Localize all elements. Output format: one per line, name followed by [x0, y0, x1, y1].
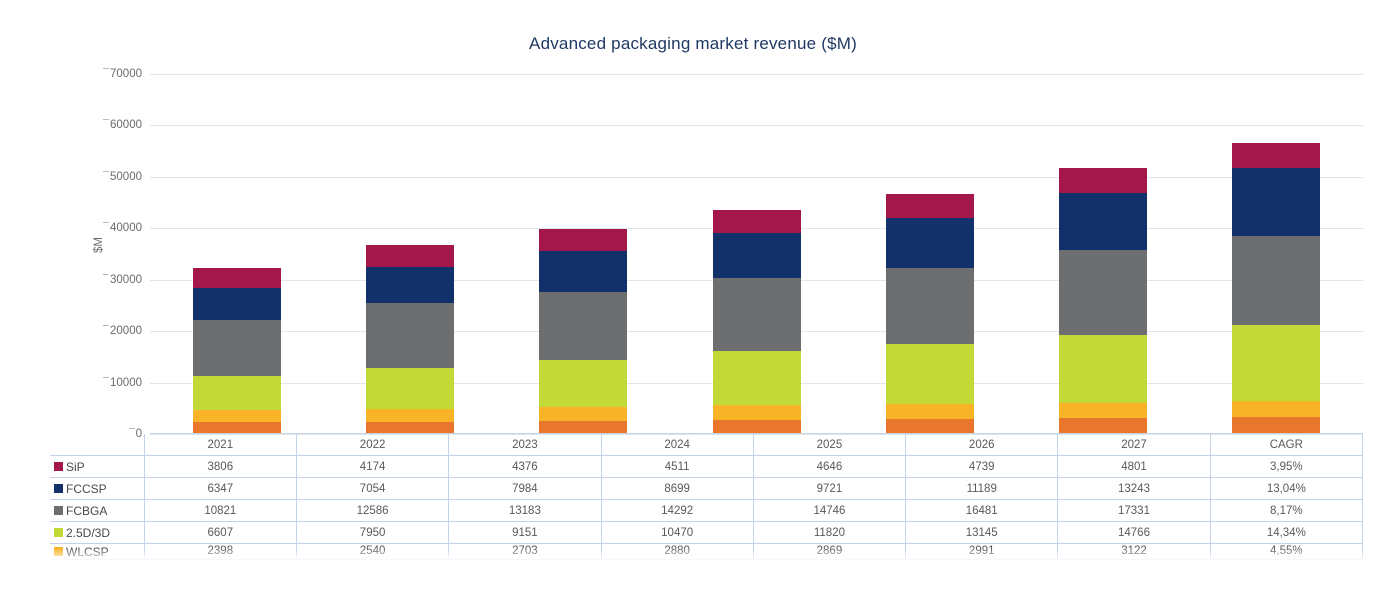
plot-area: 010000200003000040000500006000070000	[150, 74, 1363, 434]
table-cell: 3,95%	[1210, 456, 1362, 478]
table-cell: 13,04%	[1210, 478, 1362, 500]
table-cell: 8699	[601, 478, 753, 500]
table-cell: 4739	[906, 456, 1058, 478]
table-cell: 7950	[296, 522, 448, 544]
table-cell: 3806	[144, 456, 296, 478]
y-axis-tick-mark	[103, 274, 109, 275]
bar-segment[interactable]	[366, 409, 454, 422]
y-axis-tick-label: 40000	[110, 222, 142, 234]
bar-segment[interactable]	[366, 245, 454, 266]
bar-segment[interactable]	[713, 278, 801, 352]
table-cell: 6607	[144, 522, 296, 544]
bar-segment[interactable]	[1232, 325, 1320, 401]
y-axis-tick-mark	[103, 325, 109, 326]
bar-segment[interactable]	[1232, 168, 1320, 236]
bar-segment[interactable]	[1232, 143, 1320, 168]
table-cell: 9721	[753, 478, 905, 500]
table-corner-cell	[50, 434, 144, 456]
y-axis-tick-mark	[103, 119, 109, 120]
bar-segment[interactable]	[1059, 335, 1147, 403]
bar-segment[interactable]	[713, 210, 801, 233]
legend-color-swatch	[54, 462, 63, 471]
table-cell: 9151	[449, 522, 601, 544]
legend-color-swatch	[54, 484, 63, 493]
bottom-fade	[0, 548, 1386, 562]
table-cell: 13183	[449, 500, 601, 522]
bar-segment[interactable]	[1232, 236, 1320, 325]
legend-color-swatch	[54, 528, 63, 537]
table-cell: 7054	[296, 478, 448, 500]
bar-segment[interactable]	[1232, 417, 1320, 434]
y-axis-tick-mark	[103, 68, 109, 69]
bar-segment[interactable]	[1059, 418, 1147, 434]
table-cell: 4174	[296, 456, 448, 478]
table-cell: 14292	[601, 500, 753, 522]
table-column-header: CAGR	[1210, 434, 1362, 456]
bar-segment[interactable]	[1059, 168, 1147, 192]
bar-stack[interactable]	[713, 210, 801, 434]
y-axis-tick-label: 20000	[110, 325, 142, 337]
table-column-header: 2026	[906, 434, 1058, 456]
bar-segment[interactable]	[539, 229, 627, 252]
y-axis-tick-mark	[103, 377, 109, 378]
bar-segment[interactable]	[539, 251, 627, 292]
table-header-row: 2021202220232024202520262027CAGR	[50, 434, 1363, 456]
table-column-header: 2025	[753, 434, 905, 456]
legend-label: FCBGA	[66, 504, 107, 518]
data-table: 2021202220232024202520262027CAGRSiP38064…	[50, 434, 1363, 560]
table-column-header: 2024	[601, 434, 753, 456]
legend-item[interactable]: FCBGA	[50, 500, 144, 522]
bar-segment[interactable]	[886, 404, 974, 419]
table-row: FCBGA10821125861318314292147461648117331…	[50, 500, 1363, 522]
legend-item[interactable]: FCCSP	[50, 478, 144, 500]
table-cell: 17331	[1058, 500, 1210, 522]
table-cell: 4646	[753, 456, 905, 478]
bar-stack[interactable]	[366, 245, 454, 434]
table-cell: 8,17%	[1210, 500, 1362, 522]
table-cell: 11820	[753, 522, 905, 544]
table-row: SiP38064174437645114646473948013,95%	[50, 456, 1363, 478]
y-axis-tick-label: 50000	[110, 171, 142, 183]
bar-group	[150, 74, 1363, 434]
bar-segment[interactable]	[539, 407, 627, 421]
bar-segment[interactable]	[366, 267, 454, 303]
legend-item[interactable]: SiP	[50, 456, 144, 478]
table-cell: 4511	[601, 456, 753, 478]
legend-label: FCCSP	[66, 482, 107, 496]
table-cell: 7984	[449, 478, 601, 500]
legend-item[interactable]: 2.5D/3D	[50, 522, 144, 544]
bar-segment[interactable]	[886, 194, 974, 218]
bar-stack[interactable]	[1059, 168, 1147, 434]
bar-stack[interactable]	[886, 194, 974, 434]
bar-segment[interactable]	[193, 268, 281, 288]
table-cell: 4801	[1058, 456, 1210, 478]
y-axis-tick-label: 60000	[110, 119, 142, 131]
bar-segment[interactable]	[713, 351, 801, 405]
chart-page: Advanced packaging market revenue ($M) $…	[0, 0, 1386, 604]
bottom-crop-mask	[0, 560, 1386, 604]
y-axis-tick-mark	[129, 428, 135, 429]
y-axis-tick-label: 10000	[110, 377, 142, 389]
bar-segment[interactable]	[539, 360, 627, 407]
table-cell: 10821	[144, 500, 296, 522]
table-cell: 6347	[144, 478, 296, 500]
y-axis-tick-label: 70000	[110, 68, 142, 80]
table-column-header: 2027	[1058, 434, 1210, 456]
bar-segment[interactable]	[193, 288, 281, 321]
legend-color-swatch	[54, 506, 63, 515]
table-cell: 14746	[753, 500, 905, 522]
y-axis-tick-mark	[103, 171, 109, 172]
bar-segment[interactable]	[1059, 193, 1147, 251]
table-cell: 16481	[906, 500, 1058, 522]
bar-segment[interactable]	[713, 405, 801, 420]
table-row: 2.5D/3D660779509151104701182013145147661…	[50, 522, 1363, 544]
table-column-header: 2022	[296, 434, 448, 456]
table-cell: 11189	[906, 478, 1058, 500]
legend-label: SiP	[66, 460, 85, 474]
table-cell: 14766	[1058, 522, 1210, 544]
legend-label: 2.5D/3D	[66, 526, 110, 540]
y-axis-tick-label: 30000	[110, 274, 142, 286]
bar-segment[interactable]	[366, 368, 454, 409]
bar-segment[interactable]	[193, 320, 281, 376]
bar-segment[interactable]	[886, 218, 974, 268]
bar-segment[interactable]	[193, 376, 281, 410]
bar-segment[interactable]	[366, 303, 454, 368]
bar-segment[interactable]	[1059, 403, 1147, 418]
bar-segment[interactable]	[886, 419, 974, 434]
bar-stack[interactable]	[1232, 143, 1320, 434]
bar-segment[interactable]	[539, 292, 627, 360]
table-cell: 13145	[906, 522, 1058, 544]
table-row: FCCSP63477054798486999721111891324313,04…	[50, 478, 1363, 500]
table-cell: 14,34%	[1210, 522, 1362, 544]
table-cell: 13243	[1058, 478, 1210, 500]
table-cell: 4376	[449, 456, 601, 478]
table-cell: 10470	[601, 522, 753, 544]
bar-segment[interactable]	[713, 233, 801, 278]
bar-segment[interactable]	[713, 420, 801, 434]
table-column-header: 2021	[144, 434, 296, 456]
bar-stack[interactable]	[193, 268, 281, 434]
bar-segment[interactable]	[193, 410, 281, 422]
y-axis-title: $M	[93, 237, 105, 253]
bar-stack[interactable]	[539, 229, 627, 434]
y-axis-tick-mark	[103, 222, 109, 223]
bar-segment[interactable]	[1059, 250, 1147, 335]
bar-segment[interactable]	[886, 268, 974, 344]
bar-segment[interactable]	[1232, 401, 1320, 417]
table-cell: 12586	[296, 500, 448, 522]
bar-segment[interactable]	[886, 344, 974, 405]
chart-title: Advanced packaging market revenue ($M)	[0, 34, 1386, 54]
table-column-header: 2023	[449, 434, 601, 456]
